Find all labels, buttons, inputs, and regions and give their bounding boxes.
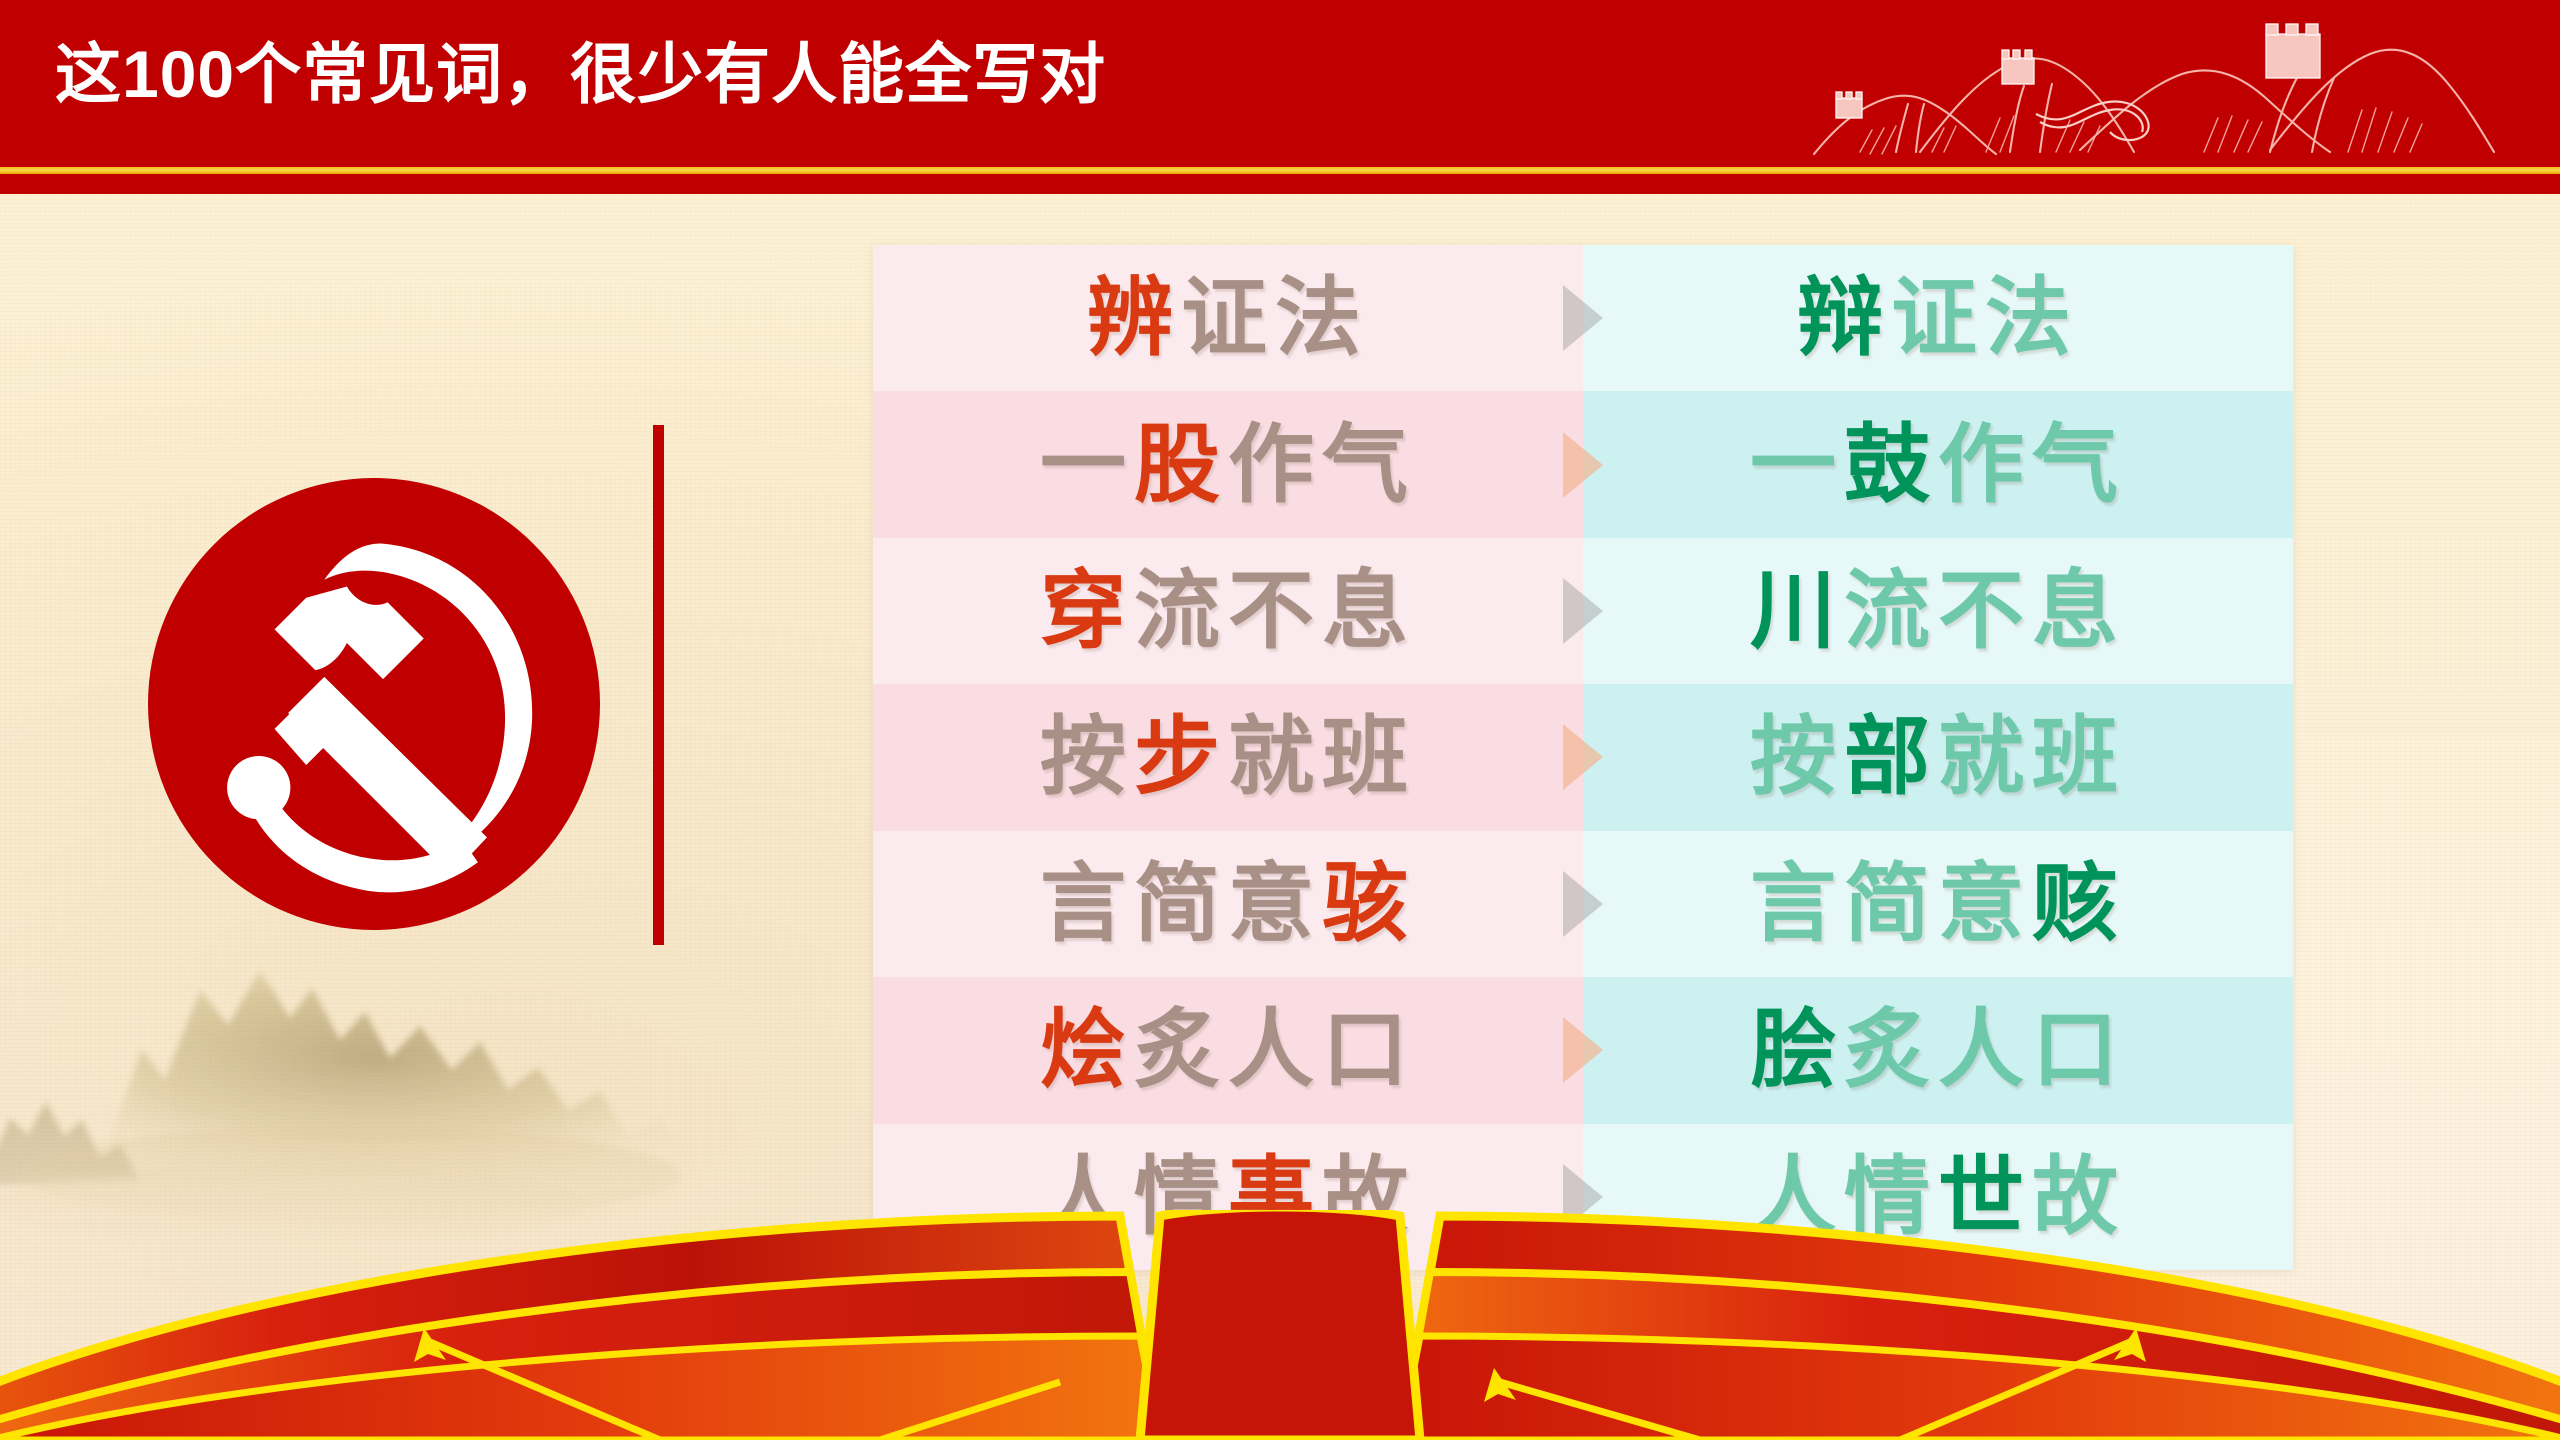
table-row: 一股作气 一鼓作气 — [873, 391, 2293, 537]
correct-phrase: 一鼓作气 — [1750, 422, 2126, 508]
wrong-phrase-post: 故 — [1322, 1149, 1416, 1245]
correct-word-cell: 人情世故 — [1583, 1124, 2293, 1270]
word-comparison-table: 辨证法 辩证法 一股作气 一鼓作气 穿流不息 川流不息 — [873, 245, 2293, 1270]
great-wall-icon — [1800, 2, 2500, 168]
wrong-phrase-post: 作气 — [1228, 417, 1416, 513]
wrong-phrase-highlight: 步 — [1134, 709, 1228, 805]
vertical-divider-rule — [653, 425, 664, 945]
correct-phrase-highlight: 辩 — [1797, 270, 1891, 366]
correct-phrase-pre: 言简意 — [1750, 856, 2032, 952]
wrong-phrase-post: 就班 — [1228, 709, 1416, 805]
wrong-word-cell: 人情事故 — [873, 1124, 1583, 1270]
slide-canvas: 辨证法 辩证法 一股作气 一鼓作气 穿流不息 川流不息 — [0, 0, 2560, 1440]
correct-phrase: 脍炙人口 — [1750, 1007, 2126, 1093]
correct-phrase-post: 炙人口 — [1844, 1002, 2126, 1098]
wrong-phrase-post: 炙人口 — [1134, 1002, 1416, 1098]
chevron-right-icon — [1563, 578, 1603, 644]
table-row: 穿流不息 川流不息 — [873, 538, 2293, 684]
correct-word-cell: 川流不息 — [1583, 538, 2293, 684]
table-row: 按步就班 按部就班 — [873, 684, 2293, 830]
chevron-right-icon — [1563, 1164, 1603, 1230]
header-bar: 这100个常见词，很少有人能全写对 — [0, 0, 2560, 194]
correct-phrase-pre: 一 — [1750, 417, 1844, 513]
correct-phrase: 人情世故 — [1750, 1154, 2126, 1240]
page-title: 这100个常见词，很少有人能全写对 — [55, 26, 1106, 122]
wrong-phrase: 辨证法 — [1087, 275, 1369, 361]
wrong-phrase: 一股作气 — [1040, 422, 1416, 508]
wrong-phrase: 烩炙人口 — [1040, 1007, 1416, 1093]
correct-phrase-highlight: 川 — [1750, 563, 1844, 659]
correct-word-cell: 辩证法 — [1583, 245, 2293, 391]
wrong-word-cell: 按步就班 — [873, 684, 1583, 830]
chevron-right-icon — [1563, 1017, 1603, 1083]
wrong-phrase-highlight: 烩 — [1040, 1002, 1134, 1098]
wrong-phrase-post: 证法 — [1181, 270, 1369, 366]
correct-phrase-highlight: 脍 — [1750, 1002, 1844, 1098]
correct-phrase-highlight: 赅 — [2032, 856, 2126, 952]
correct-word-cell: 脍炙人口 — [1583, 977, 2293, 1123]
wrong-phrase-highlight: 股 — [1134, 417, 1228, 513]
wrong-phrase-highlight: 骇 — [1322, 856, 1416, 952]
wrong-phrase: 穿流不息 — [1040, 568, 1416, 654]
correct-phrase-post: 就班 — [1938, 709, 2126, 805]
table-row: 烩炙人口 脍炙人口 — [873, 977, 2293, 1123]
wrong-phrase: 人情事故 — [1040, 1154, 1416, 1240]
wrong-phrase-highlight: 事 — [1228, 1149, 1322, 1245]
ink-wash-mountain-icon — [0, 930, 750, 1260]
correct-phrase: 按部就班 — [1750, 714, 2126, 800]
chevron-right-icon — [1563, 285, 1603, 351]
correct-phrase: 川流不息 — [1750, 568, 2126, 654]
correct-phrase-highlight: 部 — [1844, 709, 1938, 805]
correct-phrase-pre: 人情 — [1750, 1149, 1938, 1245]
correct-phrase-pre: 按 — [1750, 709, 1844, 805]
wrong-phrase-pre: 一 — [1040, 417, 1134, 513]
chevron-right-icon — [1563, 724, 1603, 790]
correct-word-cell: 按部就班 — [1583, 684, 2293, 830]
correct-phrase-post: 故 — [2032, 1149, 2126, 1245]
wrong-phrase: 按步就班 — [1040, 714, 1416, 800]
correct-phrase-highlight: 世 — [1938, 1149, 2032, 1245]
header-gold-divider — [0, 167, 2560, 174]
correct-phrase: 言简意赅 — [1750, 861, 2126, 947]
table-row: 人情事故 人情世故 — [873, 1124, 2293, 1270]
wrong-word-cell: 辨证法 — [873, 245, 1583, 391]
correct-phrase-post: 流不息 — [1844, 563, 2126, 659]
wrong-phrase-pre: 言简意 — [1040, 856, 1322, 952]
wrong-phrase-pre: 人情 — [1040, 1149, 1228, 1245]
correct-word-cell: 言简意赅 — [1583, 831, 2293, 977]
wrong-word-cell: 言简意骇 — [873, 831, 1583, 977]
wrong-word-cell: 穿流不息 — [873, 538, 1583, 684]
table-row: 言简意骇 言简意赅 — [873, 831, 2293, 977]
wrong-phrase-highlight: 穿 — [1040, 563, 1134, 659]
correct-phrase: 辩证法 — [1797, 275, 2079, 361]
wrong-phrase-post: 流不息 — [1134, 563, 1416, 659]
wrong-word-cell: 一股作气 — [873, 391, 1583, 537]
correct-phrase-post: 作气 — [1938, 417, 2126, 513]
correct-phrase-highlight: 鼓 — [1844, 417, 1938, 513]
wrong-phrase-pre: 按 — [1040, 709, 1134, 805]
correct-phrase-post: 证法 — [1891, 270, 2079, 366]
wrong-phrase: 言简意骇 — [1040, 861, 1416, 947]
chevron-right-icon — [1563, 871, 1603, 937]
chevron-right-icon — [1563, 432, 1603, 498]
wrong-phrase-highlight: 辨 — [1087, 270, 1181, 366]
cpc-hammer-sickle-emblem-icon — [148, 478, 600, 930]
correct-word-cell: 一鼓作气 — [1583, 391, 2293, 537]
wrong-word-cell: 烩炙人口 — [873, 977, 1583, 1123]
table-row: 辨证法 辩证法 — [873, 245, 2293, 391]
